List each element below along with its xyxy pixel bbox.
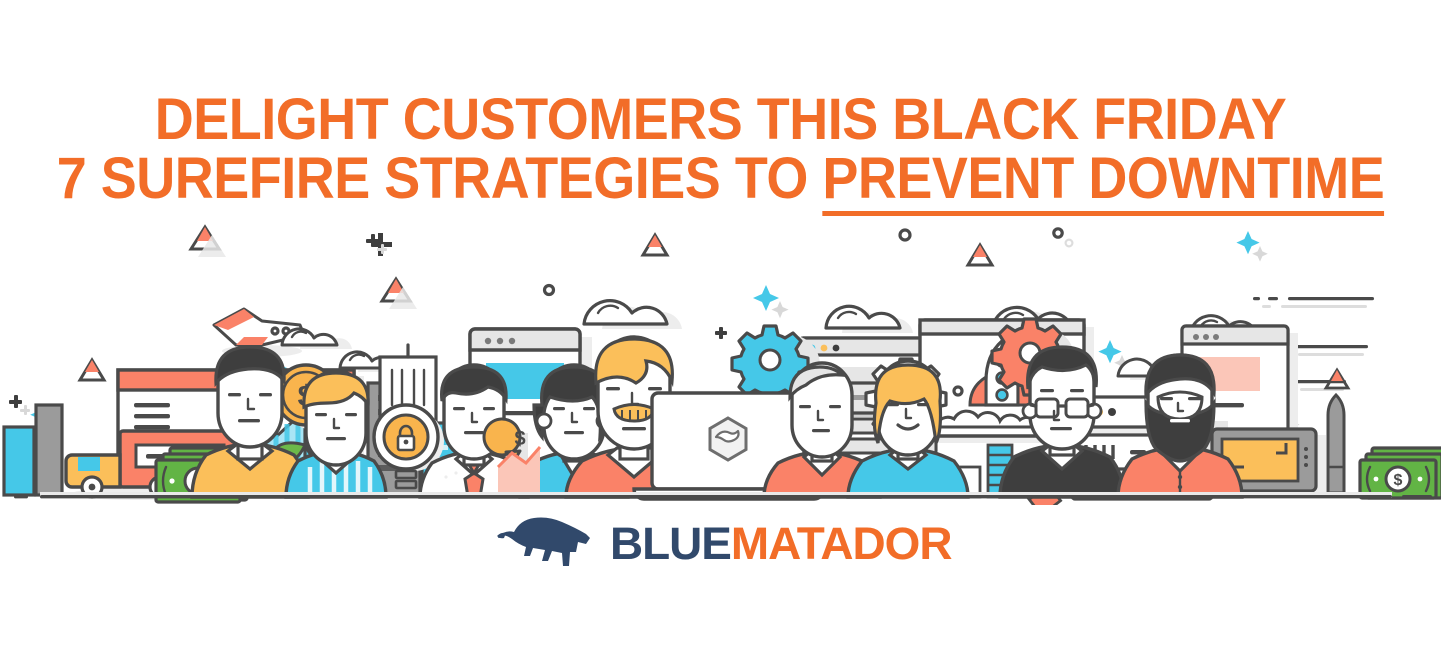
stylus-pen: [1328, 395, 1344, 493]
brand-word-blue: BLUE: [610, 518, 731, 569]
hero-illustration: .o{fill:none;stroke:#4A4A4A;stroke-width…: [0, 205, 1441, 505]
svg-text:$: $: [514, 428, 525, 450]
brand-wordmark: BLUEMATADOR: [610, 521, 951, 566]
svg-text:$: $: [1394, 472, 1403, 489]
bull-mark-icon: [496, 515, 592, 571]
headline-line-1: DELIGHT CUSTOMERS THIS BLACK FRIDAY: [50, 92, 1390, 149]
headline-block: DELIGHT CUSTOMERS THIS BLACK FRIDAY 7 SU…: [0, 92, 1441, 216]
marketing-banner: DELIGHT CUSTOMERS THIS BLACK FRIDAY 7 SU…: [0, 0, 1441, 651]
ground-line: [14, 492, 1432, 498]
brand-word-matador: MATADOR: [731, 518, 952, 569]
hexagon-bull-icon: [710, 418, 746, 460]
illustration-svg: .o{fill:none;stroke:#4A4A4A;stroke-width…: [0, 205, 1441, 505]
headline-line-2-prefix: 7 SUREFIRE STRATEGIES TO: [57, 146, 823, 211]
cash-bills-right: $: [1360, 448, 1441, 498]
brand-logo[interactable]: BLUEMATADOR: [0, 508, 1441, 578]
